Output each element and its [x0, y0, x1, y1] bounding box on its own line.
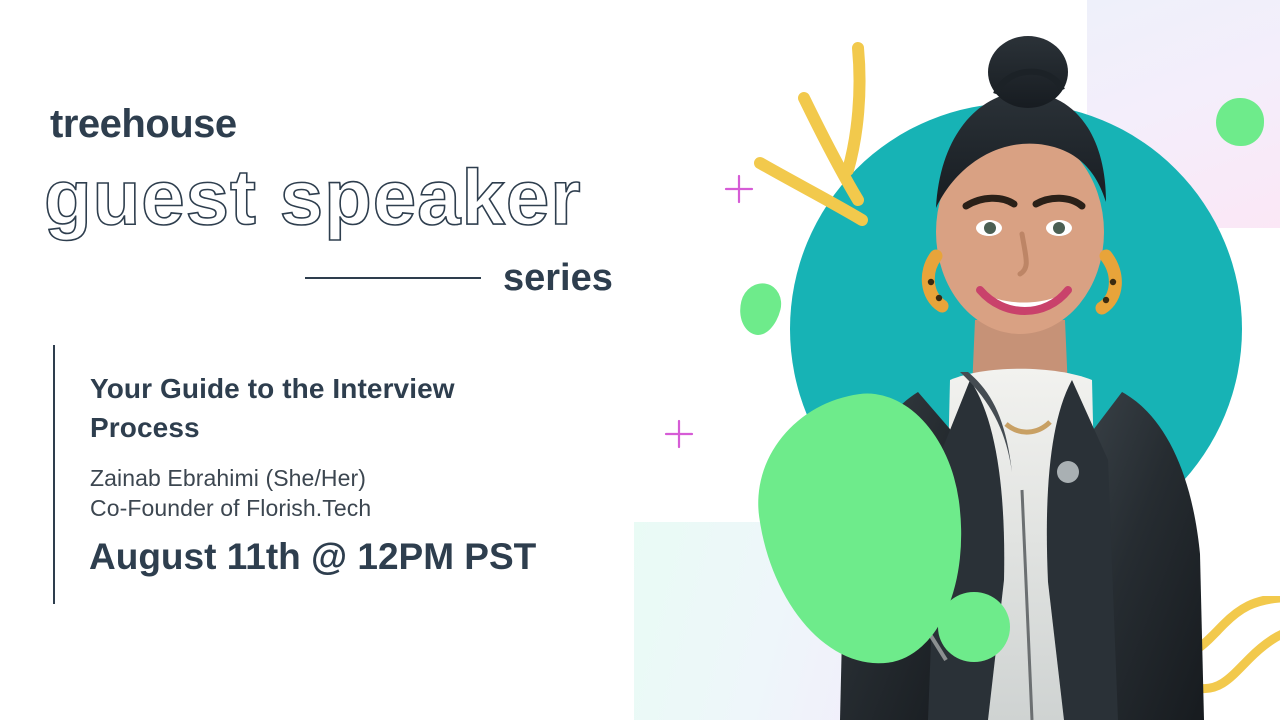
brand-wordmark: treehouse [50, 104, 237, 144]
green-blob-small [938, 592, 1010, 662]
plus-mark-upper [724, 174, 754, 204]
guest-speaker-slide: treehouse guest speaker series Your Guid… [0, 0, 1280, 720]
series-horizontal-rule [305, 277, 481, 279]
talk-title: Your Guide to the Interview Process [90, 370, 520, 447]
speaker-role: Co-Founder of Florish.Tech [90, 491, 371, 526]
series-label: series [503, 259, 613, 297]
green-blob-topright [1216, 98, 1264, 146]
headline-outline: guest speaker [44, 158, 582, 236]
plus-mark-lower [664, 419, 694, 449]
event-date: August 11th @ 12PM PST [89, 536, 536, 577]
green-blob-left [734, 279, 785, 339]
vertical-accent-rule [53, 345, 55, 604]
series-row: series [305, 252, 623, 304]
yellow-squiggle-lines [1168, 596, 1280, 716]
